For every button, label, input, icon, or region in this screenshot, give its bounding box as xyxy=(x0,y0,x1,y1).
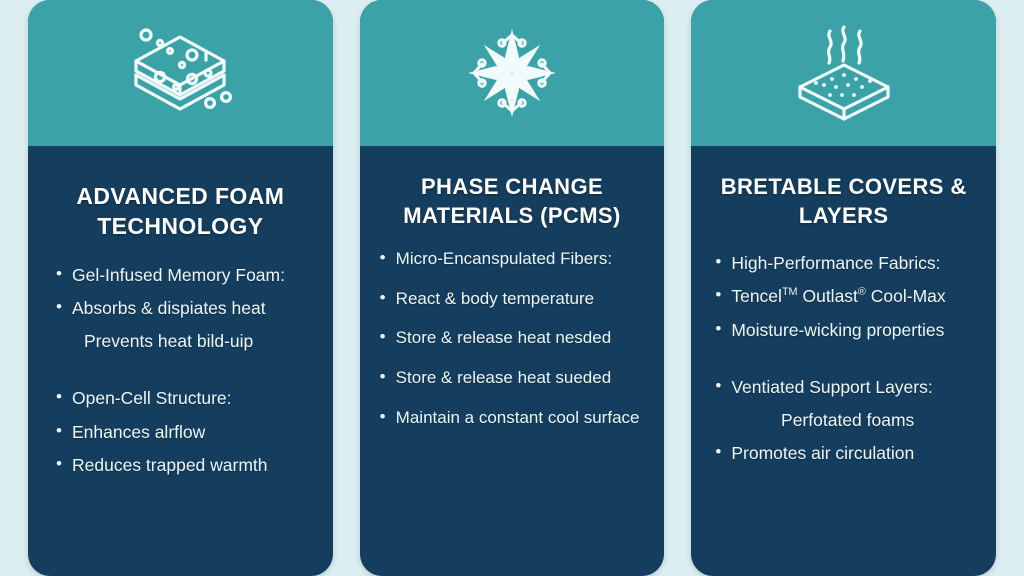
card-body: BRETABLE COVERS & LAYERS High-Performanc… xyxy=(691,146,996,576)
list-item: Gel-Infused Memory Foam: xyxy=(54,264,319,286)
list-item: Ventiated Support Layers: xyxy=(713,376,982,398)
list-item: High-Performance Fabrics: xyxy=(713,252,982,274)
list-item: React & body temperature xyxy=(378,288,651,310)
list-item: Enhances alrflow xyxy=(54,421,319,443)
list-spacer xyxy=(54,363,319,387)
infographic-board: ADVANCED FOAM TECHNOLOGY Gel-Infused Mem… xyxy=(0,0,1024,576)
card-title: ADVANCED FOAM TECHNOLOGY xyxy=(42,182,319,242)
bullet-list: Gel-Infused Memory Foam: Absorbs & dispi… xyxy=(42,264,319,487)
list-item: Promotes air circulation xyxy=(713,442,982,464)
card-header xyxy=(691,0,996,146)
bullet-list: High-Performance Fabrics: TencelTM Outla… xyxy=(705,252,982,475)
card-breathable-covers-layers: BRETABLE COVERS & LAYERS High-Performanc… xyxy=(691,0,996,576)
list-item: Reduces trapped warmth xyxy=(54,454,319,476)
snowflake-icon xyxy=(452,21,572,125)
bullet-list: Micro-Encanspulated Fibers: React & body… xyxy=(374,248,651,446)
card-header xyxy=(360,0,665,146)
card-body: ADVANCED FOAM TECHNOLOGY Gel-Infused Mem… xyxy=(28,146,333,576)
card-body: PHASE CHANGE MATERIALS (PCMS) Micro-Enca… xyxy=(360,146,665,576)
card-phase-change-materials: PHASE CHANGE MATERIALS (PCMS) Micro-Enca… xyxy=(360,0,665,576)
list-item: Prevents heat bild-uip xyxy=(54,330,319,352)
list-item: Perfotated foams xyxy=(713,409,982,431)
list-item: Maintain a constant cool surface xyxy=(378,407,651,429)
card-title: PHASE CHANGE MATERIALS (PCMS) xyxy=(374,173,651,230)
list-item-trademark: TencelTM Outlast® Cool-Max xyxy=(713,285,982,307)
list-item: Moisture-wicking properties xyxy=(713,319,982,341)
list-item: Store & release heat nesded xyxy=(378,327,651,349)
list-spacer xyxy=(713,352,982,376)
card-advanced-foam-technology: ADVANCED FOAM TECHNOLOGY Gel-Infused Mem… xyxy=(28,0,333,576)
list-item: Absorbs & dispiates heat xyxy=(54,297,319,319)
list-item: Store & release heat sueded xyxy=(378,367,651,389)
list-item: Open-Cell Structure: xyxy=(54,387,319,409)
breathable-layers-icon xyxy=(784,21,904,125)
card-header xyxy=(28,0,333,146)
list-item: Micro-Encanspulated Fibers: xyxy=(378,248,651,270)
foam-layers-icon xyxy=(120,21,240,125)
card-title: BRETABLE COVERS & LAYERS xyxy=(705,173,982,230)
